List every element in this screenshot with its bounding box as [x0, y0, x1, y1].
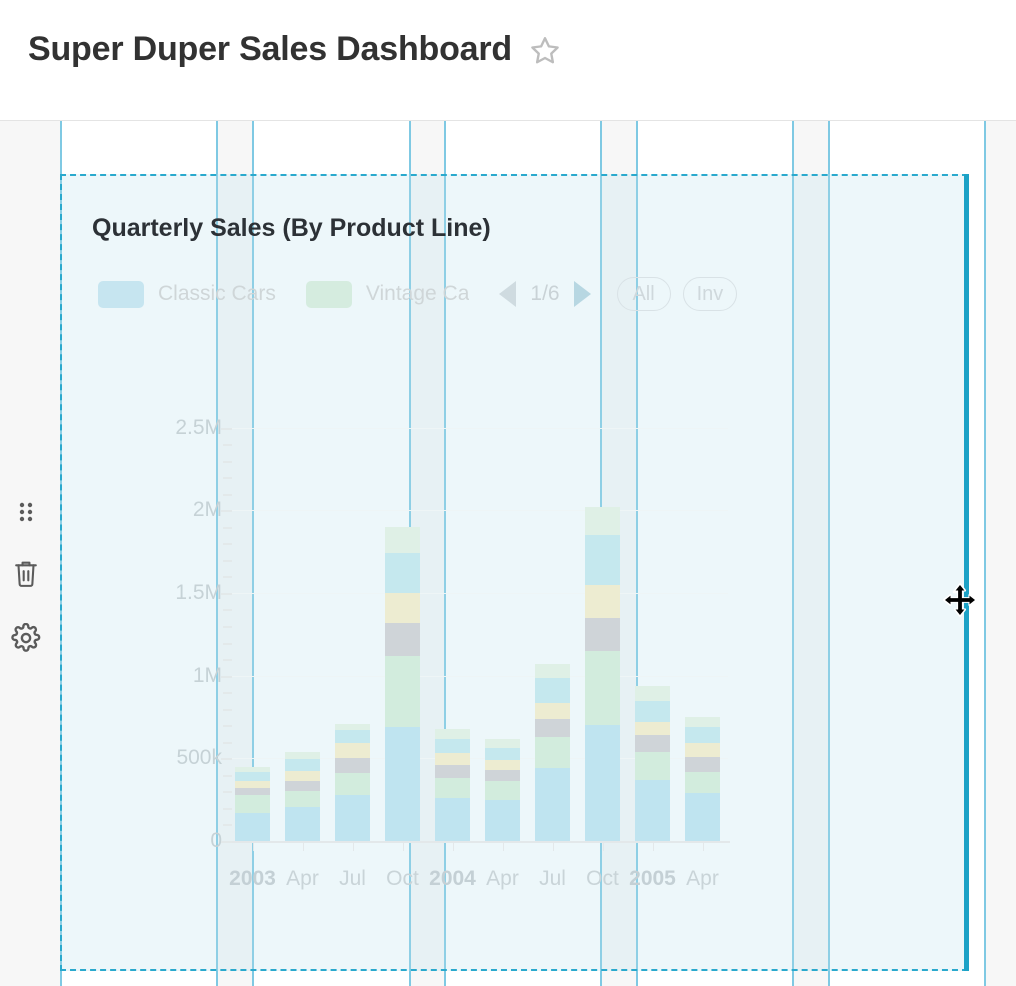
- bar-segment: [385, 656, 420, 727]
- x-axis-line: [232, 841, 730, 843]
- move-resize-cursor: [938, 578, 982, 622]
- bar-segment: [585, 651, 620, 725]
- dashboard-header: Super Duper Sales Dashboard: [0, 0, 1016, 121]
- bar-2003-Q3[interactable]: [335, 724, 370, 841]
- bar-segment: [485, 739, 520, 747]
- bar-segment: [585, 535, 620, 585]
- bar-segment: [285, 771, 320, 782]
- x-axis-tick: [303, 843, 304, 851]
- bar-segment: [335, 773, 370, 795]
- bar-segment: [635, 735, 670, 752]
- star-icon-glyph: [530, 35, 560, 65]
- chart-legend: Classic Cars Vintage Ca 1/6 All Inv: [98, 276, 749, 312]
- y-axis-minor-tick: [223, 477, 232, 479]
- bar-segment: [585, 618, 620, 651]
- y-axis-minor-tick: [223, 560, 232, 562]
- bar-segment: [235, 788, 270, 795]
- bar-segment: [485, 760, 520, 770]
- y-axis-label: 1M: [102, 664, 222, 688]
- x-axis-tick: [653, 843, 654, 851]
- bar-segment: [335, 795, 370, 841]
- y-axis-major-tick: [221, 841, 232, 843]
- bar-2004-Q3[interactable]: [535, 664, 570, 841]
- legend-item-vintage-cars[interactable]: Vintage Ca: [306, 281, 470, 308]
- y-axis-minor-tick: [223, 626, 232, 628]
- chart-title: Quarterly Sales (By Product Line): [92, 214, 491, 243]
- x-axis-label: Jul: [339, 867, 366, 891]
- star-icon[interactable]: [530, 35, 560, 65]
- bar-segment: [485, 748, 520, 760]
- y-axis-minor-tick: [223, 824, 232, 826]
- legend-all-button[interactable]: All: [617, 277, 671, 311]
- y-axis-minor-tick: [223, 659, 232, 661]
- bar-segment: [435, 778, 470, 798]
- bar-segment: [335, 730, 370, 742]
- legend-pager: 1/6: [499, 281, 590, 307]
- trash-icon-glyph: [12, 559, 40, 589]
- bar-segment: [485, 800, 520, 841]
- x-axis-tick: [453, 843, 454, 851]
- trash-icon[interactable]: [10, 558, 42, 590]
- bar-2004-Q1[interactable]: [435, 729, 470, 841]
- bar-segment: [685, 717, 720, 727]
- y-axis-minor-tick: [223, 742, 232, 744]
- bar-segment: [535, 719, 570, 737]
- bar-segment: [385, 593, 420, 623]
- y-axis-minor-tick: [223, 791, 232, 793]
- bar-segment: [635, 686, 670, 701]
- bar-2005-Q1[interactable]: [635, 686, 670, 841]
- bar-segment: [235, 813, 270, 841]
- bar-segment: [685, 743, 720, 756]
- bar-segment: [535, 768, 570, 841]
- bar-segment: [285, 781, 320, 791]
- y-axis-minor-tick: [223, 576, 232, 578]
- bar-segment: [685, 772, 720, 794]
- bar-segment: [535, 737, 570, 768]
- drag-handle-icon[interactable]: [10, 496, 42, 528]
- bar-segment: [685, 757, 720, 772]
- y-axis-label: 1.5M: [102, 581, 222, 605]
- page-title: Super Duper Sales Dashboard: [28, 30, 512, 69]
- y-axis-minor-tick: [223, 494, 232, 496]
- y-axis-major-tick: [221, 758, 232, 760]
- gear-icon[interactable]: [10, 622, 42, 654]
- y-axis-label: 2.5M: [102, 416, 222, 440]
- x-axis-label: Apr: [286, 867, 319, 891]
- x-axis-tick: [703, 843, 704, 851]
- bar-segment: [585, 585, 620, 618]
- legend-item-classic-cars[interactable]: Classic Cars: [98, 281, 276, 308]
- chart-plot-area: 0500k1M1.5M2M2.5M 2003AprJulOct2004AprJu…: [62, 326, 966, 926]
- bar-segment: [335, 724, 370, 731]
- x-axis-tick: [603, 843, 604, 851]
- bar-segment: [235, 795, 270, 813]
- bar-2003-Q4[interactable]: [385, 527, 420, 841]
- x-axis-label: Apr: [486, 867, 519, 891]
- legend-label-vintage-cars: Vintage Ca: [366, 282, 470, 306]
- widget-action-rail: [0, 121, 60, 986]
- bar-segment: [535, 703, 570, 719]
- bar-segment: [535, 664, 570, 678]
- bar-series-group: [232, 411, 732, 841]
- bar-segment: [635, 752, 670, 780]
- x-axis-tick: [253, 843, 254, 851]
- dashboard-screen: Super Duper Sales Dashboard: [0, 0, 1016, 986]
- bar-segment: [385, 623, 420, 656]
- bar-segment: [435, 739, 470, 754]
- header-title-group: Super Duper Sales Dashboard: [28, 30, 560, 69]
- bar-segment: [485, 781, 520, 799]
- x-axis-tick: [553, 843, 554, 851]
- y-axis-label: 0: [102, 829, 222, 853]
- x-axis-label: 2003: [229, 867, 276, 891]
- y-axis-minor-tick: [223, 543, 232, 545]
- y-axis-minor-tick: [223, 692, 232, 694]
- gear-icon-glyph: [11, 623, 41, 653]
- bar-segment: [535, 678, 570, 703]
- bar-segment: [685, 793, 720, 841]
- y-axis-major-tick: [221, 593, 232, 595]
- y-axis-minor-tick: [223, 808, 232, 810]
- bar-segment: [285, 791, 320, 807]
- bar-2004-Q4[interactable]: [585, 507, 620, 841]
- bar-segment: [385, 527, 420, 553]
- y-axis-label: 500k: [102, 746, 222, 770]
- legend-swatch-classic-cars: [98, 281, 144, 308]
- y-axis-minor-tick: [223, 527, 232, 529]
- bar-segment: [335, 758, 370, 774]
- x-axis-label: 2005: [629, 867, 676, 891]
- bar-segment: [235, 781, 270, 788]
- bar-segment: [435, 765, 470, 778]
- x-axis-tick: [503, 843, 504, 851]
- legend-invert-button[interactable]: Inv: [683, 277, 738, 311]
- y-axis-minor-tick: [223, 643, 232, 645]
- y-axis-major-tick: [221, 428, 232, 430]
- bar-2005-Q2[interactable]: [685, 717, 720, 841]
- bar-segment: [285, 752, 320, 759]
- y-axis-major-tick: [221, 676, 232, 678]
- bar-segment: [585, 725, 620, 841]
- bar-segment: [285, 807, 320, 841]
- legend-page-indicator: 1/6: [530, 282, 559, 306]
- bar-segment: [635, 722, 670, 735]
- bar-2003-Q1[interactable]: [235, 767, 270, 841]
- x-axis-label: Apr: [686, 867, 719, 891]
- widget-panel-quarterly-sales[interactable]: Quarterly Sales (By Product Line) Classi…: [60, 174, 968, 971]
- drag-handle-icon-glyph: [15, 499, 37, 525]
- y-axis-minor-tick: [223, 444, 232, 446]
- x-axis-label: Jul: [539, 867, 566, 891]
- bar-segment: [635, 701, 670, 722]
- bar-segment: [635, 780, 670, 841]
- bar-segment: [485, 770, 520, 782]
- triangle-left-icon[interactable]: [499, 281, 516, 307]
- bar-segment: [335, 743, 370, 758]
- legend-label-classic-cars: Classic Cars: [158, 282, 276, 306]
- bar-segment: [385, 553, 420, 593]
- bar-segment: [585, 507, 620, 535]
- bar-segment: [385, 727, 420, 841]
- x-axis-label: Oct: [586, 867, 619, 891]
- y-axis-minor-tick: [223, 775, 232, 777]
- triangle-right-icon[interactable]: [574, 281, 591, 307]
- x-axis-tick: [353, 843, 354, 851]
- bar-segment: [285, 759, 320, 771]
- legend-swatch-vintage-cars: [306, 281, 352, 308]
- widget-body: Quarterly Sales (By Product Line) Classi…: [62, 176, 966, 969]
- x-axis-label: Oct: [386, 867, 419, 891]
- bar-segment: [685, 727, 720, 744]
- y-axis-label: 2M: [102, 498, 222, 522]
- y-axis-minor-tick: [223, 725, 232, 727]
- y-axis-minor-tick: [223, 709, 232, 711]
- bar-segment: [435, 729, 470, 739]
- bar-segment: [435, 798, 470, 841]
- x-axis-label: 2004: [429, 867, 476, 891]
- y-axis-minor-tick: [223, 461, 232, 463]
- move-resize-cursor-glyph: [938, 578, 982, 622]
- bar-segment: [435, 753, 470, 765]
- y-axis-minor-tick: [223, 609, 232, 611]
- x-axis-tick: [403, 843, 404, 851]
- bar-segment: [235, 772, 270, 780]
- bar-2004-Q2[interactable]: [485, 739, 520, 841]
- y-axis-major-tick: [221, 510, 232, 512]
- bar-2003-Q2[interactable]: [285, 752, 320, 841]
